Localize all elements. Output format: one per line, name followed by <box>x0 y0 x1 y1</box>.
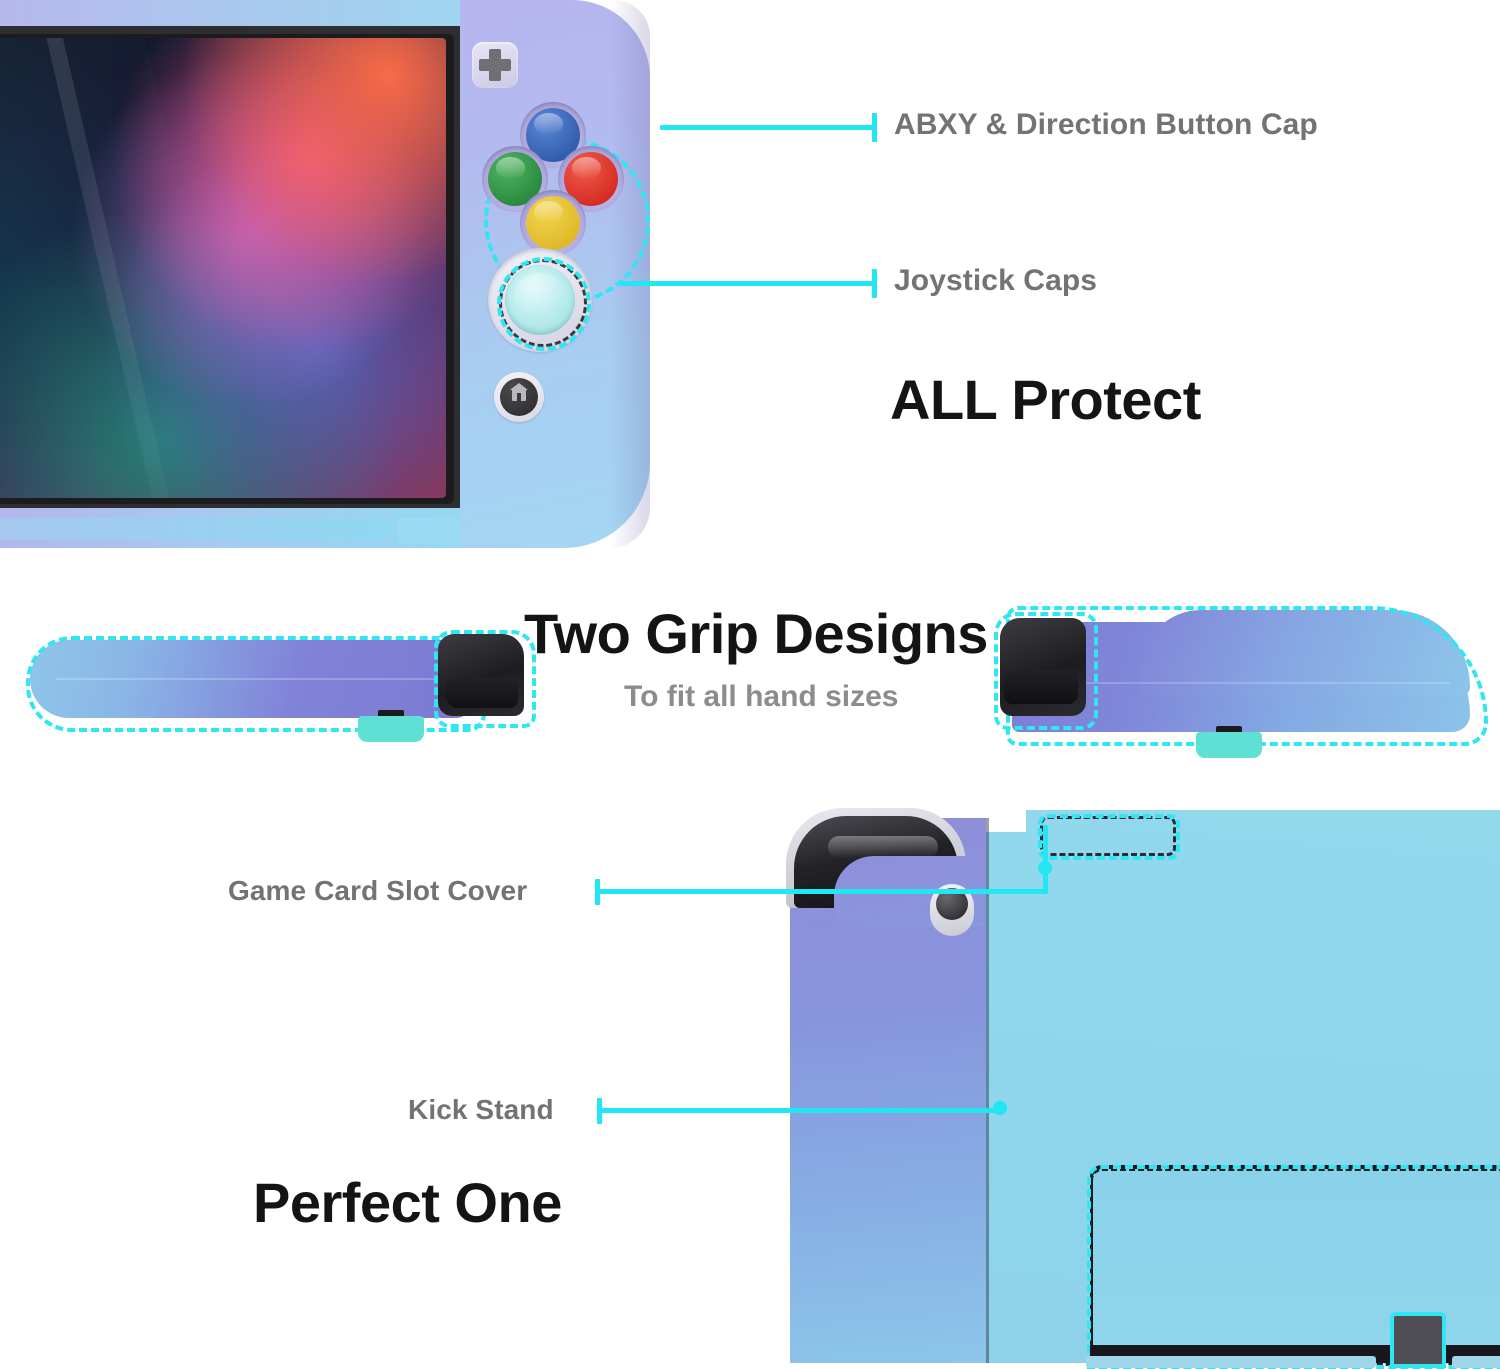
console-back-view <box>790 800 1500 1360</box>
shoulder-button-gloss <box>828 836 938 858</box>
screen-bezel <box>0 24 470 516</box>
b-button-cap[interactable] <box>526 196 580 250</box>
abxy-button-cluster <box>482 80 632 220</box>
abxy-leader-cap <box>872 113 877 142</box>
back-shell-seam <box>986 818 989 1363</box>
screen-bezel-inner <box>0 34 454 504</box>
grip-slim-profile <box>20 630 520 760</box>
console-front-view <box>0 0 670 560</box>
joystick-cap[interactable] <box>505 265 575 335</box>
plus-icon-cross <box>479 59 511 71</box>
card-slot-leader-dot <box>1038 861 1052 875</box>
home-icon <box>512 389 526 401</box>
game-card-slot-cover <box>1038 814 1180 860</box>
grip-ergonomic-profile <box>990 600 1500 770</box>
grip-slim-trigger-outline <box>434 630 536 728</box>
subheading-hand-sizes: To fit all hand sizes <box>624 680 898 714</box>
grip-ergonomic-trigger-outline <box>994 612 1098 730</box>
callout-label-abxy: ABXY & Direction Button Cap <box>894 108 1318 142</box>
grip-slim-stand-foot <box>358 716 424 742</box>
callout-label-card-slot: Game Card Slot Cover <box>228 875 527 907</box>
heading-perfect-one: Perfect One <box>253 1170 562 1235</box>
heading-two-grip-designs: Two Grip Designs <box>524 601 988 666</box>
kick-stand-leader-dot <box>993 1101 1007 1115</box>
joystick[interactable] <box>488 248 592 352</box>
kick-stand-tab[interactable] <box>1390 1312 1446 1368</box>
joystick-leader-cap <box>872 269 877 298</box>
callout-label-kick-stand: Kick Stand <box>408 1094 554 1126</box>
heading-all-protect: ALL Protect <box>890 367 1201 432</box>
card-slot-leader-riser <box>1043 825 1048 893</box>
callout-label-joystick: Joystick Caps <box>894 264 1097 298</box>
right-joycon-case <box>460 0 650 548</box>
screen-glare <box>36 38 186 498</box>
home-button[interactable] <box>494 372 544 422</box>
card-slot-leader-line <box>598 889 1048 894</box>
case-bottom-tab <box>398 518 460 544</box>
b-button-well <box>520 190 586 256</box>
home-button-core <box>500 378 538 416</box>
console-screen <box>0 38 446 498</box>
abxy-leader-line <box>660 125 875 130</box>
back-foot-left <box>1086 1356 1376 1368</box>
back-shell-notch <box>986 810 1026 832</box>
kick-stand-leader-line <box>600 1108 1000 1113</box>
back-foot-right <box>1452 1356 1500 1368</box>
infographic-canvas: ABXY & Direction Button Cap Joystick Cap… <box>0 0 1500 1357</box>
grip-ergonomic-stand-foot <box>1196 732 1262 758</box>
case-top-lip <box>0 0 475 26</box>
joystick-leader-line <box>620 281 875 286</box>
